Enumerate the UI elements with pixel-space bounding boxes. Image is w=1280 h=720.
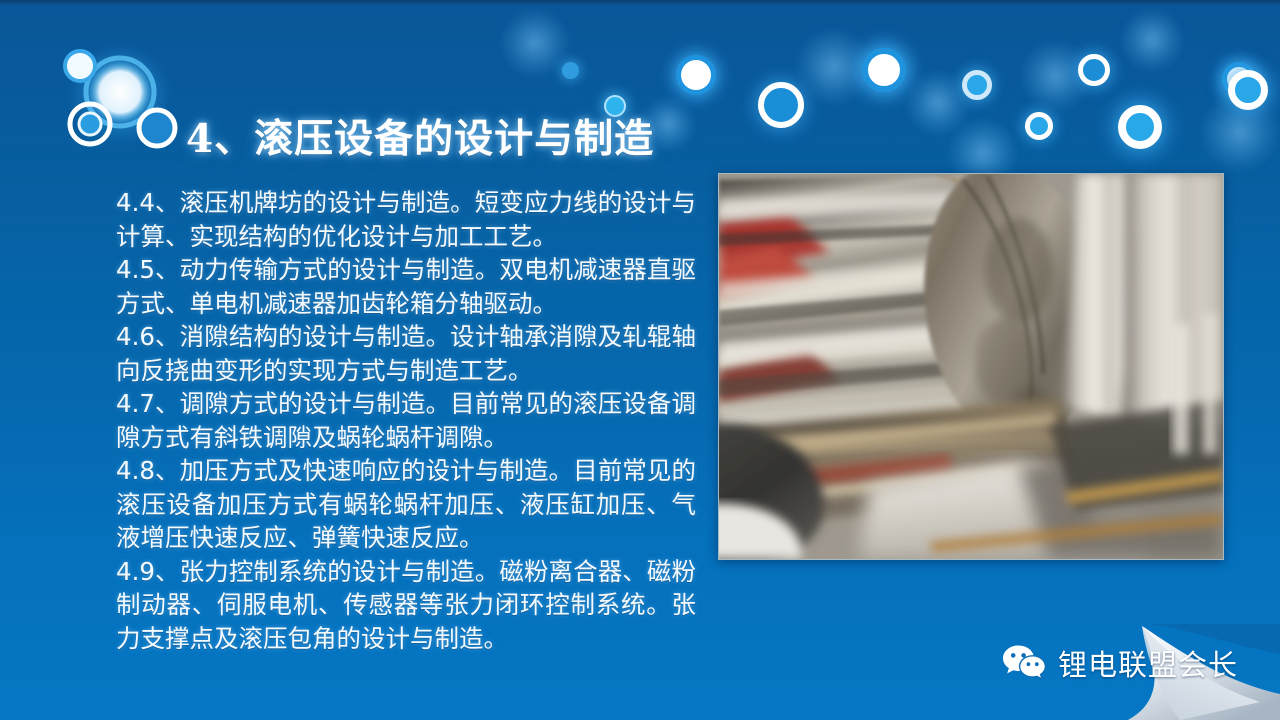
- presentation-slide: 4、滚压设备的设计与制造 4.4、滚压机牌坊的设计与制造。短变应力线的设计与计算…: [0, 0, 1280, 720]
- glow-blob: [795, 28, 873, 106]
- bubble-ring-filled: [862, 48, 906, 92]
- bubble-dot: [562, 62, 579, 79]
- watermark-label: 锂电联盟会长: [1058, 642, 1238, 684]
- glow-blob: [1020, 40, 1092, 112]
- slide-title: 4、滚压设备的设计与制造: [186, 108, 654, 164]
- glow-blob: [1200, 92, 1280, 172]
- logo-bubbles-icon: [52, 38, 202, 158]
- roller-machine-photo-image: [719, 174, 1223, 559]
- slide-body-text: 4.4、滚压机牌坊的设计与制造。短变应力线的设计与计算、实现结构的优化设计与加工…: [116, 186, 696, 655]
- bubble-ring-hollow: [758, 82, 804, 128]
- bubble-ring-filled: [1222, 62, 1256, 96]
- bubble-ring-hollow: [1228, 70, 1268, 110]
- bubble-ring-hollow: [1025, 112, 1053, 140]
- glow-blob: [1120, 8, 1184, 72]
- bubble-ring-hollow: [1078, 54, 1110, 86]
- bubble-ring-filled: [676, 55, 716, 95]
- slide-logo-bubble-cluster: [52, 38, 202, 158]
- top-edge-band: [0, 0, 1280, 5]
- body-paragraph-4-5: 4.5、动力传输方式的设计与制造。双电机减速器直驱方式、单电机减速器加齿轮箱分轴…: [116, 253, 696, 320]
- watermark: 锂电联盟会长: [980, 624, 1280, 720]
- body-paragraph-4-9: 4.9、张力控制系统的设计与制造。磁粉离合器、磁粉制动器、伺服电机、传感器等张力…: [116, 555, 696, 656]
- wechat-icon: [1002, 644, 1046, 682]
- body-paragraph-4-7: 4.7、调隙方式的设计与制造。目前常见的滚压设备调隙方式有斜铁调隙及蜗轮蜗杆调隙…: [116, 387, 696, 454]
- body-paragraph-4-8: 4.8、加压方式及快速响应的设计与制造。目前常见的滚压设备加压方式有蜗轮蜗杆加压…: [116, 454, 696, 555]
- body-paragraph-4-6: 4.6、消隙结构的设计与制造。设计轴承消隙及轧辊轴向反挠曲变形的实现方式与制造工…: [116, 320, 696, 387]
- bubble-ring-hollow: [962, 70, 992, 100]
- watermark-content: 锂电联盟会长: [1002, 642, 1238, 684]
- bubble-ring-hollow: [1118, 105, 1162, 149]
- roller-machine-photo: [718, 173, 1224, 560]
- glow-blob: [905, 70, 971, 136]
- body-paragraph-4-4: 4.4、滚压机牌坊的设计与制造。短变应力线的设计与计算、实现结构的优化设计与加工…: [116, 186, 696, 253]
- glow-blob: [500, 8, 570, 78]
